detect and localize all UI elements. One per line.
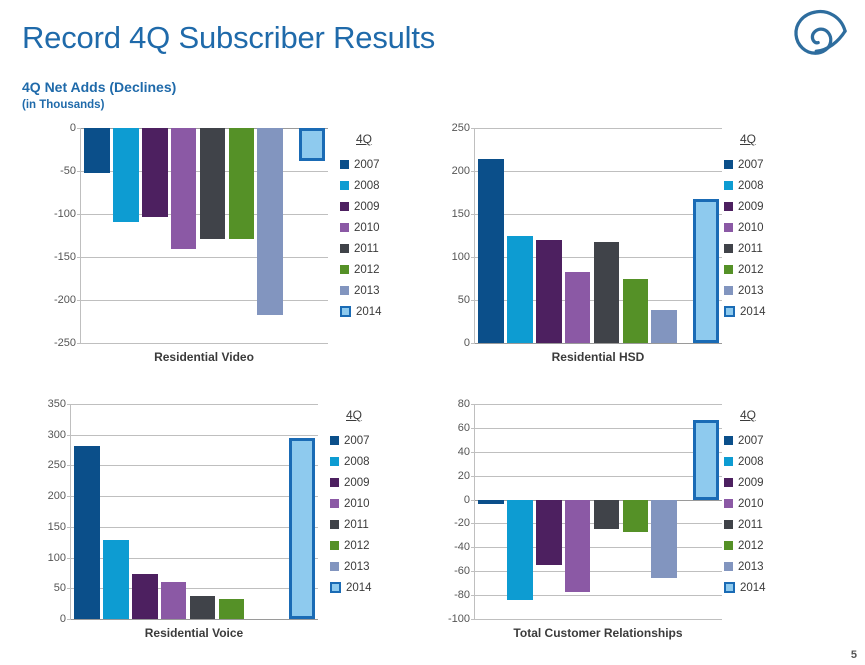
y-axis-tick-label: 60 bbox=[458, 422, 470, 434]
plot-area bbox=[474, 404, 722, 619]
y-axis-tick-label: 0 bbox=[70, 122, 76, 134]
legend-swatch-icon bbox=[724, 286, 733, 295]
legend-item-2012[interactable]: 2012 bbox=[330, 535, 372, 556]
legend-item-label: 2008 bbox=[344, 456, 370, 468]
legend-item-label: 2007 bbox=[738, 159, 764, 171]
y-axis-tick-label: 20 bbox=[458, 470, 470, 482]
y-axis-tick-label: -20 bbox=[454, 517, 470, 529]
y-axis-tick-label: 100 bbox=[48, 552, 66, 564]
chart-legend: 4Q 20072008200920102011201220132014 bbox=[724, 408, 766, 598]
legend-item-2013[interactable]: 2013 bbox=[330, 556, 372, 577]
legend-swatch-icon bbox=[340, 223, 349, 232]
y-axis-tick bbox=[67, 619, 71, 620]
legend-title: 4Q bbox=[356, 132, 382, 146]
legend-item-2012[interactable]: 2012 bbox=[340, 259, 382, 280]
y-axis-labels: 250200150100500 bbox=[428, 128, 474, 343]
legend-item-label: 2009 bbox=[344, 477, 370, 489]
legend-swatch-icon bbox=[724, 244, 733, 253]
chart-title: Residential Video bbox=[80, 350, 328, 364]
y-axis-tick-label: -150 bbox=[54, 251, 76, 263]
legend-swatch-icon bbox=[724, 520, 733, 529]
eye-spiral-logo-icon bbox=[793, 8, 851, 58]
y-axis-tick bbox=[77, 343, 81, 344]
legend-swatch-icon bbox=[330, 499, 339, 508]
y-axis-tick-label: 150 bbox=[452, 208, 470, 220]
legend-swatch-icon bbox=[340, 306, 351, 317]
legend-item-label: 2010 bbox=[738, 498, 764, 510]
y-axis-tick bbox=[471, 343, 475, 344]
legend-item-2008[interactable]: 2008 bbox=[724, 451, 766, 472]
legend-item-2014[interactable]: 2014 bbox=[330, 577, 372, 598]
plot-area bbox=[70, 404, 318, 619]
bar-2010 bbox=[171, 128, 196, 249]
y-axis-tick-label: -250 bbox=[54, 337, 76, 349]
bar-series bbox=[71, 404, 318, 619]
legend-item-label: 2012 bbox=[344, 540, 370, 552]
legend-item-label: 2011 bbox=[354, 243, 379, 255]
chart-residential-hsd: 250200150100500 Residential HSD 4Q 20072… bbox=[428, 128, 828, 378]
chart-legend: 4Q 20072008200920102011201220132014 bbox=[340, 132, 382, 322]
legend-item-label: 2010 bbox=[738, 222, 764, 234]
legend-item-label: 2008 bbox=[354, 180, 380, 192]
legend-swatch-icon bbox=[724, 562, 733, 571]
legend-items: 20072008200920102011201220132014 bbox=[724, 154, 766, 322]
y-axis-labels: 0-50-100-150-200-250 bbox=[34, 128, 80, 343]
legend-swatch-icon bbox=[330, 582, 341, 593]
bar-2011 bbox=[200, 128, 225, 239]
y-axis-tick-label: -100 bbox=[54, 208, 76, 220]
legend-item-label: 2010 bbox=[354, 222, 380, 234]
plot-area bbox=[474, 128, 722, 343]
legend-swatch-icon bbox=[724, 306, 735, 317]
legend-item-2007[interactable]: 2007 bbox=[340, 154, 382, 175]
bar-2012 bbox=[623, 279, 648, 343]
legend-item-2014[interactable]: 2014 bbox=[340, 301, 382, 322]
legend-swatch-icon bbox=[340, 265, 349, 274]
legend-swatch-icon bbox=[724, 181, 733, 190]
bar-series bbox=[475, 128, 722, 343]
gridline bbox=[71, 619, 318, 620]
legend-item-2011[interactable]: 2011 bbox=[330, 514, 372, 535]
legend-item-2009[interactable]: 2009 bbox=[724, 196, 766, 217]
legend-swatch-icon bbox=[330, 436, 339, 445]
plot-area bbox=[80, 128, 328, 343]
legend-swatch-icon bbox=[724, 436, 733, 445]
legend-item-label: 2007 bbox=[354, 159, 380, 171]
chart-title: Total Customer Relationships bbox=[474, 626, 722, 640]
chart-residential-video: 0-50-100-150-200-250 Residential Video 4… bbox=[34, 128, 424, 378]
legend-item-2014[interactable]: 2014 bbox=[724, 301, 766, 322]
bar-2010 bbox=[565, 272, 590, 343]
legend-item-2011[interactable]: 2011 bbox=[724, 514, 766, 535]
legend-item-label: 2010 bbox=[344, 498, 370, 510]
legend-item-label: 2011 bbox=[738, 519, 763, 531]
legend-item-2010[interactable]: 2010 bbox=[340, 217, 382, 238]
legend-item-label: 2014 bbox=[740, 306, 766, 318]
legend-item-label: 2011 bbox=[344, 519, 369, 531]
legend-item-2013[interactable]: 2013 bbox=[724, 556, 766, 577]
legend-item-2012[interactable]: 2012 bbox=[724, 259, 766, 280]
legend-item-label: 2013 bbox=[738, 285, 764, 297]
bar-2014 bbox=[693, 199, 718, 343]
bar-2013 bbox=[257, 128, 282, 315]
bar-2012 bbox=[229, 128, 254, 239]
y-axis-tick-label: 200 bbox=[452, 165, 470, 177]
legend-swatch-icon bbox=[724, 265, 733, 274]
legend-swatch-icon bbox=[724, 499, 733, 508]
y-axis-tick-label: 200 bbox=[48, 490, 66, 502]
y-axis-tick-label: -80 bbox=[454, 589, 470, 601]
legend-swatch-icon bbox=[340, 202, 349, 211]
y-axis-tick-label: 100 bbox=[452, 251, 470, 263]
y-axis-tick-label: 250 bbox=[48, 459, 66, 471]
legend-item-label: 2008 bbox=[738, 180, 764, 192]
legend-swatch-icon bbox=[330, 541, 339, 550]
y-axis-tick-label: -100 bbox=[448, 613, 470, 625]
bar-2007 bbox=[478, 500, 503, 505]
legend-item-2009[interactable]: 2009 bbox=[330, 472, 372, 493]
legend-swatch-icon bbox=[330, 520, 339, 529]
bar-2009 bbox=[132, 574, 157, 619]
legend-item-2011[interactable]: 2011 bbox=[340, 238, 382, 259]
y-axis-tick-label: 80 bbox=[458, 398, 470, 410]
legend-item-2008[interactable]: 2008 bbox=[724, 175, 766, 196]
y-axis-tick-label: 0 bbox=[60, 613, 66, 625]
gridline bbox=[475, 343, 722, 344]
legend-title: 4Q bbox=[740, 408, 766, 422]
y-axis-tick-label: 50 bbox=[54, 582, 66, 594]
y-axis-tick-label: 0 bbox=[464, 337, 470, 349]
bar-2013 bbox=[651, 310, 676, 343]
y-axis-tick-label: -50 bbox=[60, 165, 76, 177]
y-axis-tick-label: 50 bbox=[458, 294, 470, 306]
bar-2010 bbox=[565, 500, 590, 592]
legend-item-label: 2013 bbox=[344, 561, 370, 573]
legend-swatch-icon bbox=[724, 582, 735, 593]
legend-item-2007[interactable]: 2007 bbox=[724, 154, 766, 175]
legend-swatch-icon bbox=[724, 202, 733, 211]
legend-item-2009[interactable]: 2009 bbox=[340, 196, 382, 217]
bar-2007 bbox=[478, 159, 503, 343]
legend-item-2014[interactable]: 2014 bbox=[724, 577, 766, 598]
legend-item-label: 2012 bbox=[738, 540, 764, 552]
legend-item-2012[interactable]: 2012 bbox=[724, 535, 766, 556]
legend-item-label: 2009 bbox=[738, 477, 764, 489]
bar-2008 bbox=[113, 128, 138, 222]
y-axis-tick-label: -40 bbox=[454, 541, 470, 553]
legend-item-2013[interactable]: 2013 bbox=[340, 280, 382, 301]
bar-2013 bbox=[651, 500, 676, 579]
legend-item-2011[interactable]: 2011 bbox=[724, 238, 766, 259]
legend-item-label: 2009 bbox=[354, 201, 380, 213]
page-title: Record 4Q Subscriber Results bbox=[22, 20, 435, 56]
legend-item-2008[interactable]: 2008 bbox=[330, 451, 372, 472]
bar-2009 bbox=[536, 500, 561, 566]
legend-item-2009[interactable]: 2009 bbox=[724, 472, 766, 493]
slide-canvas: Record 4Q Subscriber Results 4Q Net Adds… bbox=[0, 0, 865, 665]
bar-2008 bbox=[507, 236, 532, 343]
chart-title: Residential Voice bbox=[70, 626, 318, 640]
legend-swatch-icon bbox=[724, 160, 733, 169]
bar-2008 bbox=[507, 500, 532, 600]
y-axis-tick-label: 350 bbox=[48, 398, 66, 410]
legend-swatch-icon bbox=[330, 457, 339, 466]
legend-item-label: 2007 bbox=[344, 435, 370, 447]
legend-item-label: 2011 bbox=[738, 243, 763, 255]
gridline bbox=[475, 619, 722, 620]
bar-2010 bbox=[161, 582, 186, 619]
bar-2014 bbox=[693, 420, 718, 500]
legend-item-label: 2009 bbox=[738, 201, 764, 213]
bar-2012 bbox=[219, 599, 244, 619]
legend-item-label: 2014 bbox=[346, 582, 372, 594]
legend-swatch-icon bbox=[724, 541, 733, 550]
legend-items: 20072008200920102011201220132014 bbox=[330, 430, 372, 598]
legend-swatch-icon bbox=[330, 562, 339, 571]
legend-item-2013[interactable]: 2013 bbox=[724, 280, 766, 301]
chart-title: Residential HSD bbox=[474, 350, 722, 364]
bar-2007 bbox=[74, 446, 99, 619]
legend-swatch-icon bbox=[340, 181, 349, 190]
bar-2009 bbox=[142, 128, 167, 217]
chart-legend: 4Q 20072008200920102011201220132014 bbox=[330, 408, 372, 598]
legend-swatch-icon bbox=[724, 223, 733, 232]
legend-item-label: 2012 bbox=[354, 264, 380, 276]
y-axis-tick-label: 40 bbox=[458, 446, 470, 458]
y-axis-tick-label: -60 bbox=[454, 565, 470, 577]
bar-2011 bbox=[594, 242, 619, 343]
bar-2009 bbox=[536, 240, 561, 343]
legend-title: 4Q bbox=[346, 408, 372, 422]
legend-item-label: 2008 bbox=[738, 456, 764, 468]
bar-2007 bbox=[84, 128, 109, 173]
legend-swatch-icon bbox=[340, 244, 349, 253]
legend-item-label: 2007 bbox=[738, 435, 764, 447]
bar-2011 bbox=[190, 596, 215, 619]
legend-items: 20072008200920102011201220132014 bbox=[724, 430, 766, 598]
chart-legend: 4Q 20072008200920102011201220132014 bbox=[724, 132, 766, 322]
y-axis-tick-label: 250 bbox=[452, 122, 470, 134]
y-axis-tick-label: -200 bbox=[54, 294, 76, 306]
y-axis-labels: 350300250200150100500 bbox=[24, 404, 70, 619]
legend-item-label: 2013 bbox=[354, 285, 380, 297]
bar-2014 bbox=[299, 128, 324, 161]
bar-2008 bbox=[103, 540, 128, 619]
legend-item-2010[interactable]: 2010 bbox=[724, 493, 766, 514]
gridline bbox=[81, 343, 328, 344]
legend-items: 20072008200920102011201220132014 bbox=[340, 154, 382, 322]
y-axis-tick-label: 300 bbox=[48, 429, 66, 441]
legend-item-label: 2014 bbox=[740, 582, 766, 594]
chart-total-customer-relationships: 806040200-20-40-60-80-100 Total Customer… bbox=[428, 404, 828, 654]
y-axis-tick-label: 150 bbox=[48, 521, 66, 533]
legend-item-2007[interactable]: 2007 bbox=[330, 430, 372, 451]
legend-item-2010[interactable]: 2010 bbox=[724, 217, 766, 238]
slide-subtitle-units: (in Thousands) bbox=[22, 99, 104, 111]
y-axis-tick bbox=[471, 619, 475, 620]
legend-item-label: 2012 bbox=[738, 264, 764, 276]
legend-title: 4Q bbox=[740, 132, 766, 146]
y-axis-labels: 806040200-20-40-60-80-100 bbox=[428, 404, 474, 619]
bar-series bbox=[81, 128, 328, 343]
bar-2014 bbox=[289, 438, 314, 619]
legend-item-2007[interactable]: 2007 bbox=[724, 430, 766, 451]
legend-item-label: 2013 bbox=[738, 561, 764, 573]
legend-swatch-icon bbox=[340, 286, 349, 295]
bar-2012 bbox=[623, 500, 648, 532]
slide-subtitle: 4Q Net Adds (Declines) bbox=[22, 79, 176, 95]
legend-swatch-icon bbox=[330, 478, 339, 487]
legend-item-2008[interactable]: 2008 bbox=[340, 175, 382, 196]
chart-residential-voice: 350300250200150100500 Residential Voice … bbox=[24, 404, 424, 654]
legend-swatch-icon bbox=[724, 457, 733, 466]
bar-2011 bbox=[594, 500, 619, 530]
legend-swatch-icon bbox=[724, 478, 733, 487]
bar-series bbox=[475, 404, 722, 619]
y-axis-tick-label: 0 bbox=[464, 494, 470, 506]
legend-item-label: 2014 bbox=[356, 306, 382, 318]
legend-swatch-icon bbox=[340, 160, 349, 169]
legend-item-2010[interactable]: 2010 bbox=[330, 493, 372, 514]
page-number: 5 bbox=[851, 649, 857, 661]
